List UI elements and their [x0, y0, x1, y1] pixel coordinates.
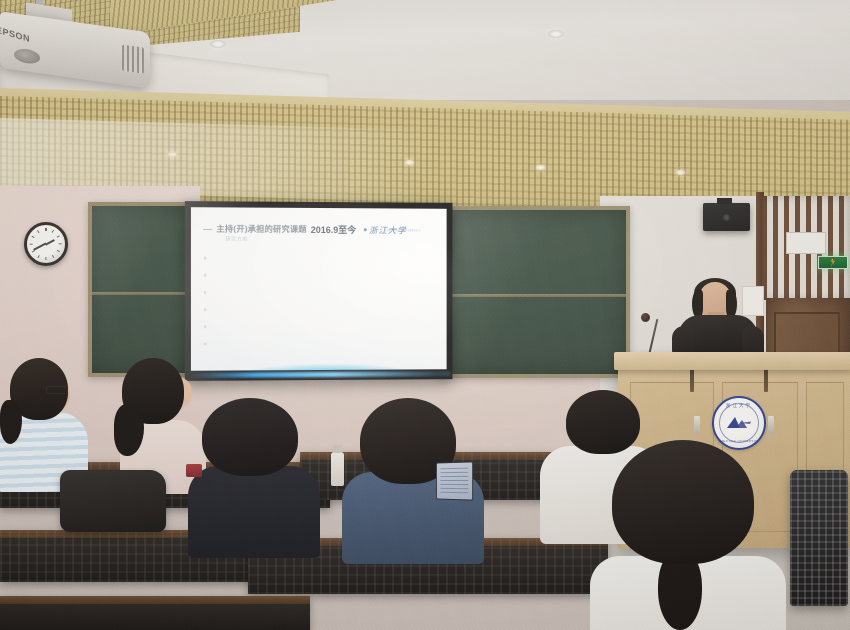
ceiling-downlight [210, 40, 226, 48]
slide-wave-graphic-secondary [201, 348, 431, 371]
projection-screen: — 主持(开)承担的研究课题 2016.9至今 浙江大学 ZHEJIANG UN… [185, 201, 453, 381]
red-cup [186, 464, 202, 477]
recessed-light [676, 170, 685, 175]
mesh-office-chair [790, 470, 848, 606]
audience-hair [612, 440, 754, 564]
audience-hair [202, 398, 298, 476]
microphone-head [641, 313, 650, 322]
emblem-motif-icon [725, 415, 753, 430]
audience-body [188, 466, 320, 558]
slide-subtitle: 研究方向 [225, 236, 247, 243]
slide-title-dash: — [203, 224, 212, 233]
presenter [676, 282, 762, 362]
lecture-hall-photo: EPSON — [0, 0, 850, 630]
chalk-rail [442, 294, 626, 297]
recessed-light [536, 165, 545, 170]
screen-bottom-glow [189, 371, 451, 378]
emergency-exit-sign: 🏃 [818, 256, 848, 269]
speaker-bracket [717, 198, 732, 204]
exit-runner-icon: 🏃 [828, 259, 838, 267]
bottle-cap [333, 445, 342, 453]
recessed-light [168, 152, 177, 157]
recessed-light [405, 160, 414, 165]
backpack [60, 470, 166, 532]
ceiling-downlight [548, 30, 564, 38]
bullet-dot-icon [204, 308, 206, 310]
door-notice-sign [786, 232, 826, 254]
wall-clock [24, 222, 68, 266]
slide-bullet-item [204, 318, 384, 336]
wall-mounted-speaker [703, 203, 750, 231]
slide-bullet-item [204, 301, 384, 318]
slide-title-text: 主持(开)承担的研究课题 [216, 222, 306, 234]
podium-latch[interactable] [768, 416, 774, 434]
podium-latch[interactable] [694, 416, 700, 434]
slide-year-label: 2016.9至今 [311, 222, 356, 235]
blackboard-right [438, 206, 630, 378]
bullet-dot-icon [204, 326, 206, 328]
desk-top [0, 596, 310, 604]
bullet-dot-icon [204, 291, 206, 293]
water-bottle [331, 452, 344, 486]
slide-bullet-item [204, 284, 384, 301]
slide-university-logo: 浙江大学 ZHEJIANG UNIVERSITY [364, 220, 407, 238]
podium-top-surface [614, 352, 850, 370]
projector-lens [14, 47, 40, 65]
presenter-hair-right [726, 290, 737, 318]
slide-bullet-item [204, 250, 384, 267]
clock-minute-hand [34, 243, 47, 251]
projected-slide: — 主持(开)承担的研究课题 2016.9至今 浙江大学 ZHEJIANG UN… [191, 207, 447, 371]
clock-hour-hand [46, 239, 55, 245]
blackboard-sheen [442, 210, 626, 374]
eyeglasses [46, 386, 68, 394]
presenter-hair-left [692, 290, 703, 318]
speaker-driver [723, 214, 730, 221]
desk-row [0, 596, 310, 630]
emblem-chinese-text: 浙江大学 [714, 403, 764, 409]
projector-vent [122, 45, 144, 74]
laptop-screen-content [440, 468, 468, 496]
laptop[interactable] [436, 461, 473, 500]
slide-bullet-item [204, 267, 384, 284]
projector-brand-label: EPSON [0, 25, 30, 45]
bullet-dot-icon [204, 257, 206, 259]
audience-member [196, 398, 308, 548]
logo-subtext: ZHEJIANG UNIVERSITY [385, 229, 421, 232]
audience-member [2, 358, 82, 488]
logo-dot-icon [364, 228, 367, 231]
bullet-dot-icon [204, 274, 206, 276]
audience-member-foreground [600, 440, 780, 630]
